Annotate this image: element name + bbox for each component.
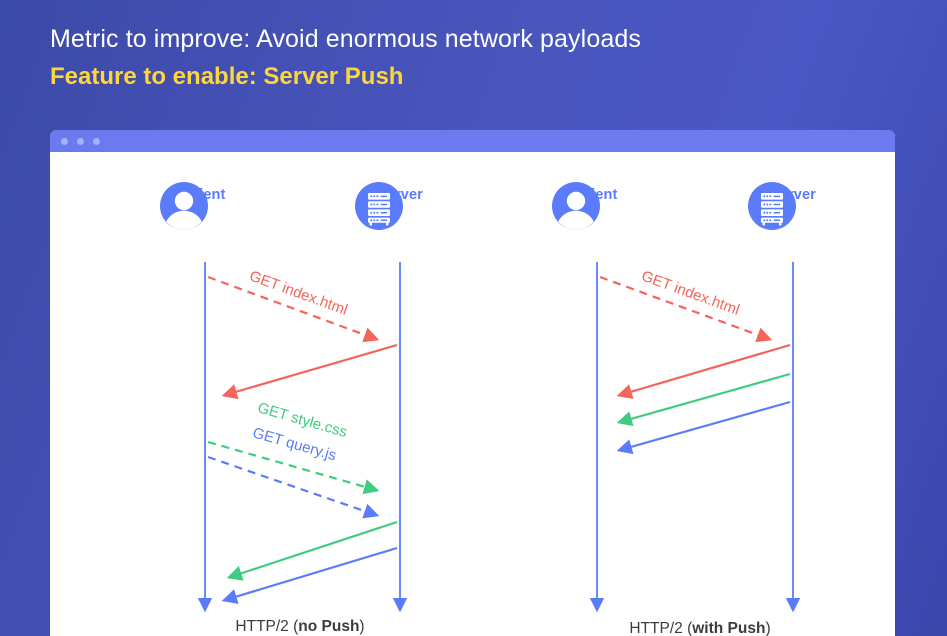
msg-style-css-response	[230, 522, 397, 577]
msg-query-js-push	[620, 402, 790, 450]
sequence-diagram-no-push: Client	[50, 152, 500, 636]
header-block: Metric to improve: Avoid enormous networ…	[50, 22, 910, 94]
msg-index-html-push	[620, 345, 790, 395]
caption-with-push-bold: with Push	[692, 620, 765, 636]
browser-title-bar	[50, 130, 895, 152]
caption-no-push-prefix: HTTP/2 (	[235, 618, 298, 635]
feature-to-enable-line: Feature to enable: Server Push	[50, 60, 910, 94]
caption-with-push: HTTP/2 (with Push)	[520, 620, 880, 636]
caption-no-push-suffix: )	[359, 618, 364, 635]
msg-style-css-push	[620, 374, 790, 422]
caption-with-push-suffix: )	[765, 620, 770, 636]
window-maximize-dot-icon[interactable]	[93, 138, 100, 145]
window-minimize-dot-icon[interactable]	[77, 138, 84, 145]
msg-index-html-response	[225, 345, 397, 395]
sequence-diagram-with-push: Client	[500, 152, 895, 636]
no-push-arrows	[50, 152, 500, 636]
browser-window: Client	[50, 130, 895, 636]
window-close-dot-icon[interactable]	[61, 138, 68, 145]
metric-to-improve-line: Metric to improve: Avoid enormous networ…	[50, 22, 910, 56]
msg-query-js-response	[225, 548, 397, 600]
caption-no-push: HTTP/2 (no Push)	[120, 618, 480, 636]
caption-no-push-bold: no Push	[298, 618, 359, 635]
caption-with-push-prefix: HTTP/2 (	[629, 620, 692, 636]
browser-content-area: Client	[50, 152, 895, 636]
with-push-arrows	[500, 152, 895, 636]
